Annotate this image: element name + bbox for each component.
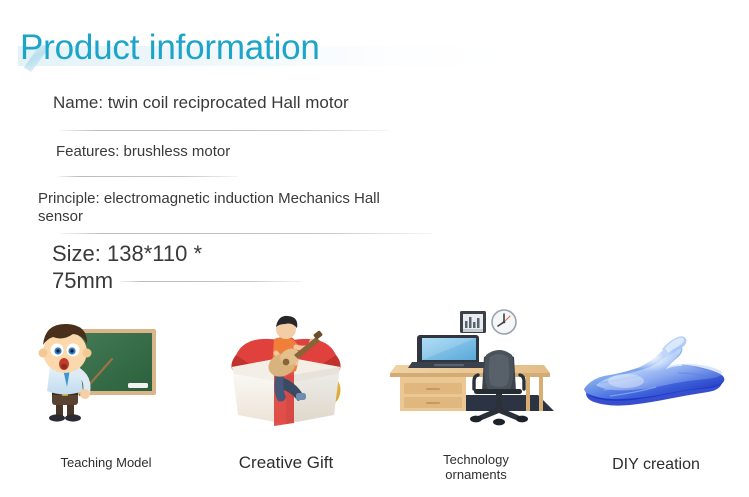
spec-divider-size — [120, 281, 302, 282]
gallery-item-diy-creation: DIY creation — [566, 305, 746, 497]
spec-divider-name — [60, 130, 388, 131]
spec-text-size: Size: 138*110 * 75mm — [52, 240, 232, 294]
spec-text-principle: Principle: electromagnetic induction Mec… — [38, 190, 398, 226]
gallery-label-teaching-model: Teaching Model — [16, 455, 196, 471]
spec-text-name: Name: twin coil reciprocated Hall motor — [53, 92, 349, 114]
page-header: Product information — [0, 14, 749, 66]
gallery-item-creative-gift: Creative Gift — [196, 305, 376, 497]
gallery-item-technology-ornaments: Technology ornaments — [386, 305, 566, 497]
office-desk-laptop-chair-icon — [386, 305, 566, 435]
gallery-label-technology-ornaments: Technology ornaments — [386, 452, 566, 482]
spec-divider-features — [58, 176, 238, 177]
feature-gallery: Teaching Model — [0, 305, 749, 497]
spec-text-features: Features: brushless motor — [56, 142, 230, 162]
gift-box-guitarist-icon — [196, 305, 376, 435]
blue-glass-hand-icon — [566, 305, 746, 435]
page-title: Product information — [20, 28, 320, 68]
gallery-label-creative-gift: Creative Gift — [196, 453, 376, 473]
gallery-item-teaching-model: Teaching Model — [16, 305, 196, 497]
spec-divider-principle — [60, 233, 432, 234]
gallery-label-diy-creation: DIY creation — [566, 455, 746, 474]
teacher-blackboard-icon — [16, 305, 196, 435]
